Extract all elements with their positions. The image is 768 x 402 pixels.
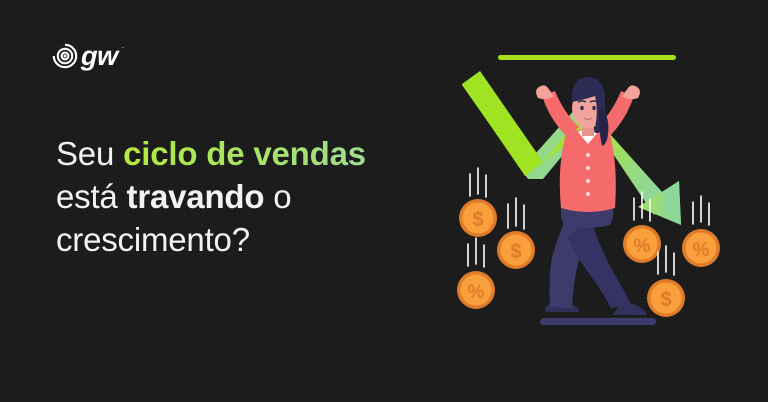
headline-line-2-plain-after: o (264, 178, 291, 215)
button-1 (586, 153, 590, 157)
eye-left (580, 106, 583, 110)
button-2 (586, 166, 590, 170)
motion-lines (508, 198, 524, 229)
coin-left-mid: $ (497, 198, 535, 269)
coin-symbol: % (468, 282, 485, 303)
logo-trademark-mark: · (122, 44, 125, 52)
coin-symbol: % (634, 236, 651, 257)
coin-symbol: $ (660, 289, 671, 311)
logo-wordmark: gw (81, 43, 118, 70)
headline-line-1-plain: Seu (56, 135, 123, 172)
button-3 (586, 179, 590, 183)
illustration-canvas: $ $ (440, 22, 740, 352)
coin-symbol: % (693, 240, 710, 261)
motion-lines (468, 238, 484, 267)
headline-line-2-bold: travando (127, 178, 265, 215)
promo-banner: gw · Seu ciclo de vendas está travando o… (0, 0, 768, 402)
ground-bar (540, 318, 656, 325)
headline-line-3: crescimento? (56, 218, 456, 261)
hand-left (536, 85, 554, 99)
coin-symbol: $ (510, 241, 521, 263)
coin-symbol: $ (472, 209, 483, 231)
coin-left-upper: $ (459, 168, 497, 237)
hero-illustration: $ $ (440, 22, 740, 352)
brand-logo[interactable]: gw · (52, 41, 124, 71)
headline-line-2: está travando o (56, 175, 456, 218)
eye-right (592, 106, 595, 110)
headline-line-1: Seu ciclo de vendas (56, 132, 456, 175)
headline-highlight: ciclo de vendas (123, 135, 366, 172)
headline-line-2-plain-before: está (56, 178, 127, 215)
coin-left-lower: % (457, 238, 495, 309)
headline: Seu ciclo de vendas está travando o cres… (56, 132, 456, 261)
spiral-target-icon (52, 43, 78, 69)
motion-lines (693, 196, 709, 225)
button-4 (586, 192, 590, 196)
motion-lines (470, 168, 486, 197)
coin-right-upper: % (682, 196, 720, 267)
top-green-rule (498, 55, 676, 60)
hand-right (622, 85, 640, 99)
motion-lines (658, 246, 674, 275)
character-woman (536, 77, 646, 315)
